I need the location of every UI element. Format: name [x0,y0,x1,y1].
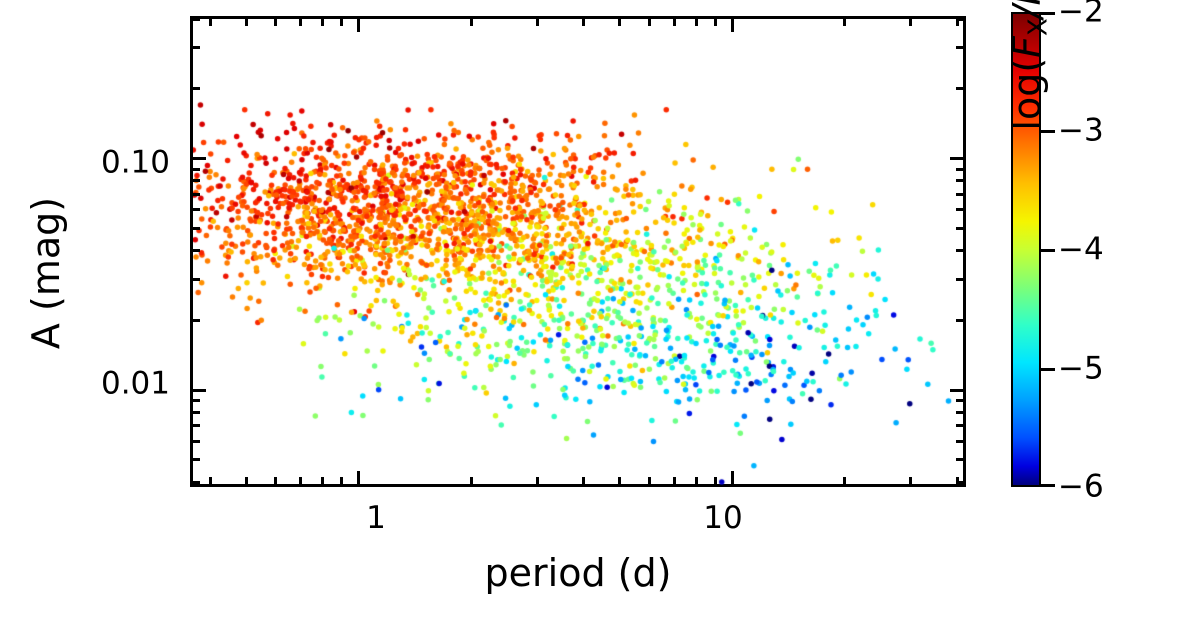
x-tick-mark-top [245,19,248,26]
x-tick-mark-top [299,19,302,26]
x-tick-mark-top [321,19,324,26]
x-tick-mark-top [618,19,621,26]
y-tick-mark [193,157,206,160]
colorbar-tick-label-1: −3 [1058,116,1104,147]
y-tick-mark [193,87,200,90]
ratio-slash: /F [1005,0,1049,18]
x-tick-mark [673,477,676,484]
x-tick-mark-top [470,19,473,26]
x-tick-mark-top [340,19,343,26]
x-tick-mark-top [673,19,676,26]
y-tick-mark-right [956,319,963,322]
y-tick-mark-right [956,193,963,196]
x-tick-mark-top [731,19,734,32]
y-tick-label-1: 0.01 [20,369,170,400]
x-tick-mark [274,477,277,484]
x-tick-label-1: 10 [703,503,742,534]
x-tick-mark-top [695,19,698,26]
y-tick-mark-right [956,440,963,443]
y-tick-mark [193,389,206,392]
flux-x-subscript: X [1024,18,1054,36]
x-tick-mark [357,471,360,484]
x-tick-mark [470,477,473,484]
x-tick-mark-top [536,19,539,26]
colorbar-tick-label-4: −6 [1058,472,1104,503]
x-tick-label-0: 1 [366,503,386,534]
x-tick-mark [209,477,212,484]
y-tick-mark [193,208,200,211]
y-tick-mark-right [956,278,963,281]
x-tick-mark-top [648,19,651,26]
x-tick-mark [714,477,717,484]
y-tick-mark-right [956,249,963,252]
flux-x-symbol: F [1005,36,1049,58]
x-tick-mark [618,477,621,484]
x-tick-mark [648,477,651,484]
x-tick-mark [536,477,539,484]
scatter-figure: A (mag) 0.100.01 110 period (d) −2−3−4−5… [0,0,1200,630]
y-tick-mark-right [956,208,963,211]
colorbar-tick-mark-4 [1041,484,1055,487]
y-tick-mark [193,168,200,171]
colorbar-label: log(FX/Fbol) [1005,0,1054,250]
y-tick-mark [193,411,200,414]
x-tick-mark-top [582,19,585,26]
x-tick-mark-top [909,19,912,26]
x-tick-mark [695,477,698,484]
y-tick-mark [193,319,200,322]
y-tick-mark [193,440,200,443]
y-tick-label-0: 0.10 [20,148,170,179]
y-tick-mark [193,179,200,182]
y-tick-mark-right [956,399,963,402]
y-tick-mark-right [956,179,963,182]
x-tick-mark [245,477,248,484]
y-tick-mark-right [956,227,963,230]
y-tick-mark-right [956,411,963,414]
plot-area [190,16,966,487]
colorbar-tick-label-3: −5 [1058,354,1104,385]
x-tick-mark-top [843,19,846,26]
x-tick-mark [909,477,912,484]
colorbar-tick-mark-3 [1041,368,1055,371]
y-tick-mark [193,193,200,196]
y-tick-mark [193,481,200,484]
x-tick-mark-top [209,19,212,26]
y-tick-mark-right [956,168,963,171]
y-tick-mark [193,399,200,402]
y-tick-mark-right [956,424,963,427]
x-tick-mark [731,471,734,484]
x-tick-mark [299,477,302,484]
colorbar-tick-label-0: −2 [1058,0,1104,28]
y-tick-mark [193,46,200,49]
y-tick-mark [193,458,200,461]
scatter-points-canvas [193,19,969,490]
x-tick-mark [321,477,324,484]
x-tick-mark [340,477,343,484]
colorbar-tick-label-2: −4 [1058,235,1104,266]
y-tick-mark-right [956,87,963,90]
y-tick-mark [193,424,200,427]
y-tick-mark [193,249,200,252]
x-tick-mark-top [956,19,959,26]
y-tick-mark [193,18,200,21]
y-tick-mark [193,227,200,230]
y-tick-mark-right [956,46,963,49]
x-tick-mark [843,477,846,484]
x-tick-mark-top [714,19,717,26]
x-tick-mark-top [274,19,277,26]
x-tick-mark [582,477,585,484]
x-tick-mark-top [357,19,360,32]
y-tick-mark-right [950,157,963,160]
x-tick-mark [956,477,959,484]
x-axis-label: period (d) [190,551,966,595]
y-tick-mark-right [956,458,963,461]
y-tick-mark [193,278,200,281]
y-tick-mark-right [950,389,963,392]
